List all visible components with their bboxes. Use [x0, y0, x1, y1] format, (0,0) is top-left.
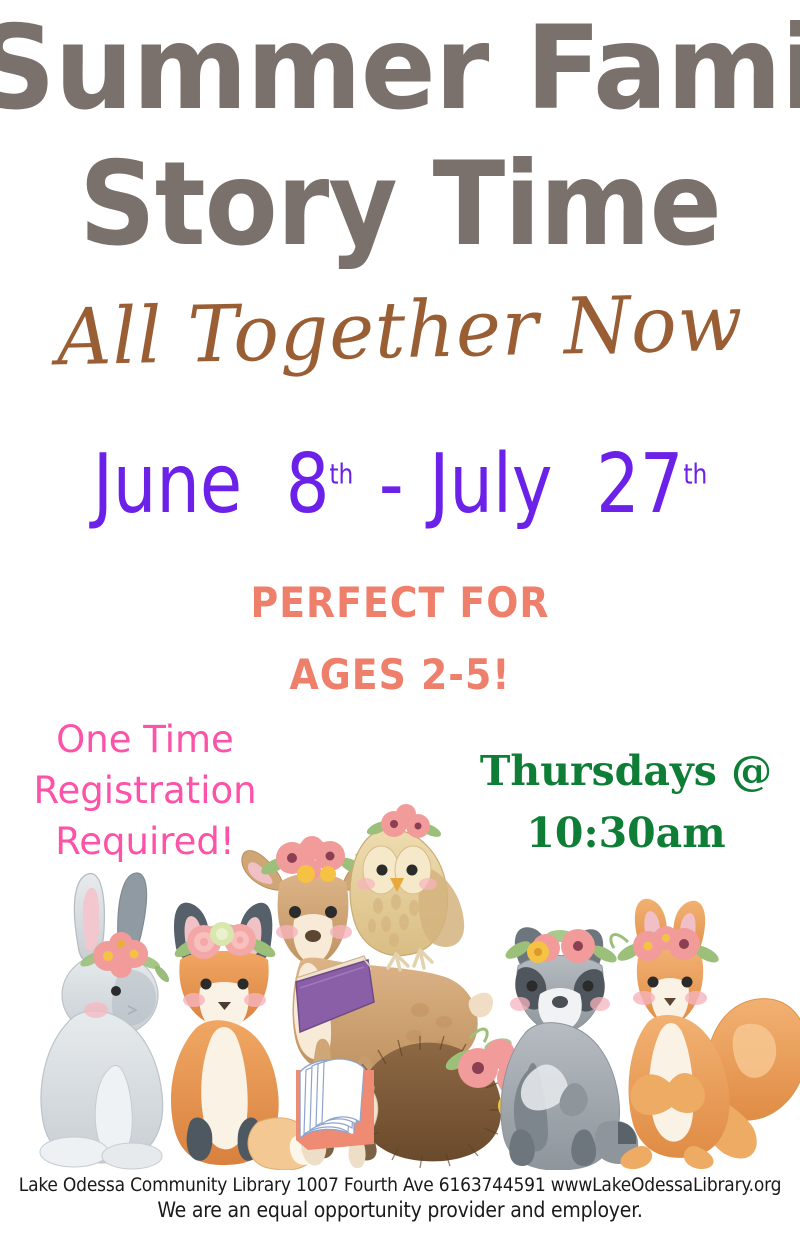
footer-line-1: Lake Odessa Community Library 1007 Fourt… [0, 1174, 800, 1196]
date-end-month: July [429, 437, 552, 532]
rabbit-illustration [40, 873, 171, 1169]
date-end-ordinal: th [683, 458, 707, 491]
ages-line-1: PERFECT FOR [0, 578, 800, 627]
page-title-line-1: Summer Family [0, 14, 800, 124]
raccoon-illustration [501, 927, 638, 1170]
poster-canvas: Summer Family Story Time All Together No… [0, 0, 800, 1236]
date-start-day: 8 [286, 437, 330, 532]
page-title-line-2: Story Time [0, 150, 800, 260]
footer-contact: Lake Odessa Community Library 1007 Fourt… [0, 1174, 800, 1222]
date-end-day: 27 [596, 437, 683, 532]
date-separator: - [375, 437, 407, 532]
owl-illustration [350, 804, 464, 970]
footer-line-2: We are an equal opportunity provider and… [0, 1198, 800, 1222]
squirrel-illustration [611, 899, 800, 1169]
date-start-ordinal: th [329, 458, 353, 491]
ages-line-2: AGES 2-5! [0, 650, 800, 699]
open-book-illustration [296, 1059, 374, 1150]
woodland-animals-illustration [0, 770, 800, 1170]
date-range: June 8th - July 27th [28, 444, 772, 526]
registration-line-1: One Time [12, 714, 278, 765]
date-start-month: June [93, 437, 242, 532]
subtitle-script: All Together Now [11, 278, 789, 385]
